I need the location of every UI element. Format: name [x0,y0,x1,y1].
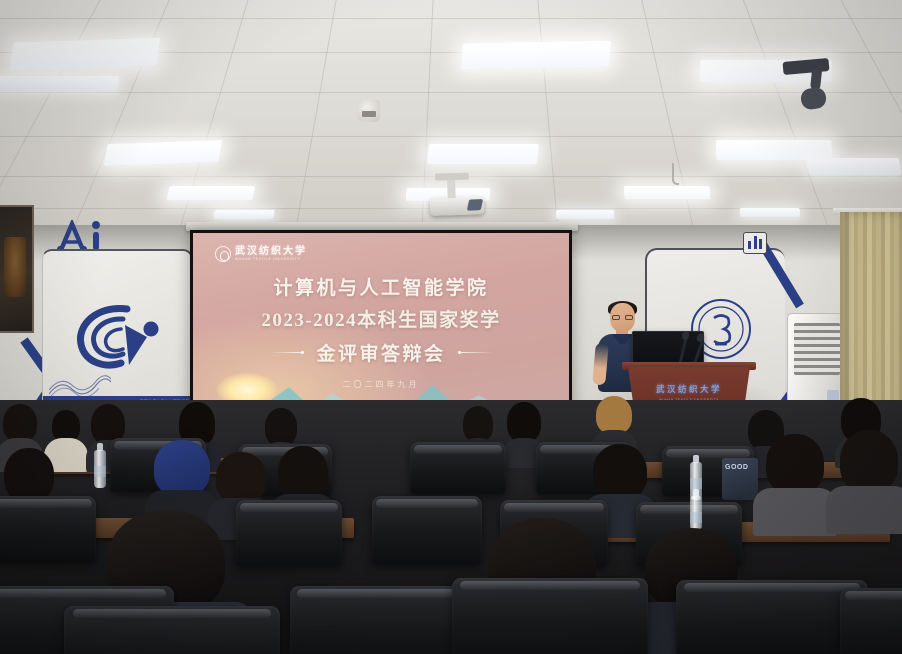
left-wall-panel: 武汉纺织大学人工智能学院 [42,249,193,410]
slide-title-line1: 计算机与人工智能学院 [193,273,569,300]
ceiling-light [0,76,120,92]
seat[interactable] [236,500,342,566]
slide-title-line3: 金评审答辩会 [316,339,445,366]
bag-text: GOOD [725,464,748,471]
bar-chart-icon [743,232,767,254]
lecture-hall-photo: 武汉纺织大学人工智能学院 武汉纺织大学 WUHAN TEXTILE [0,0,902,654]
audience-member [836,430,902,526]
seat[interactable] [840,588,902,654]
tote-bag[interactable]: GOOD [722,458,758,500]
ceiling-projector [430,196,485,216]
seat[interactable] [452,578,648,654]
ceiling-light [461,41,612,70]
ceiling-light [213,210,275,219]
slide-logo-cn: 武汉纺织大学 [235,247,307,257]
projection-screen: 武汉纺织大学 WUHAN TEXTILE UNIVERSITY 计算机与人工智能… [190,230,572,416]
water-bottle[interactable] [94,450,106,488]
audience-member [762,434,828,528]
seat[interactable] [290,586,474,654]
seat[interactable] [410,442,506,494]
glasses-icon [612,315,633,320]
seat[interactable] [0,496,96,562]
ac-grill-icon [794,323,840,375]
ceiling-hook-icon [672,163,679,185]
ceiling-light [624,186,711,199]
ai-wall-mark-icon [55,220,117,252]
ceiling-light [716,140,833,160]
slide-title-line2: 2023-2024本科生国家奖学 [193,305,569,332]
ceiling-light [556,210,614,219]
seat[interactable] [64,606,280,654]
swoosh-logo-icon [69,299,167,371]
audience-area: GOOD [0,400,902,654]
slide-decor-dash-right [459,352,493,353]
presentation-slide: 武汉纺织大学 WUHAN TEXTILE UNIVERSITY 计算机与人工智能… [193,233,569,413]
wall-framed-panel [0,205,34,333]
slide-logo-ring-icon [215,246,231,262]
ceiling-light [104,140,223,166]
slide-logo-en: WUHAN TEXTILE UNIVERSITY [235,258,307,261]
wave-decoration-icon [49,370,111,396]
ceiling-light [740,208,801,217]
ceiling-light [167,186,256,200]
ceiling-light [10,37,161,70]
projector-lens-icon [467,199,483,211]
slide-title-line3-row: 金评审答辩会 [193,339,569,366]
ceiling-light [427,144,539,164]
smoke-detector-icon [358,100,380,122]
slide-decor-dash-left [269,352,303,353]
ceiling-light [807,158,901,175]
seat[interactable] [372,496,482,564]
water-bottle[interactable] [690,496,702,530]
podium-name-cn: 武汉纺织大学 [628,383,750,395]
security-camera-icon [783,60,829,82]
slide-university-logo: 武汉纺织大学 WUHAN TEXTILE UNIVERSITY [215,243,321,265]
